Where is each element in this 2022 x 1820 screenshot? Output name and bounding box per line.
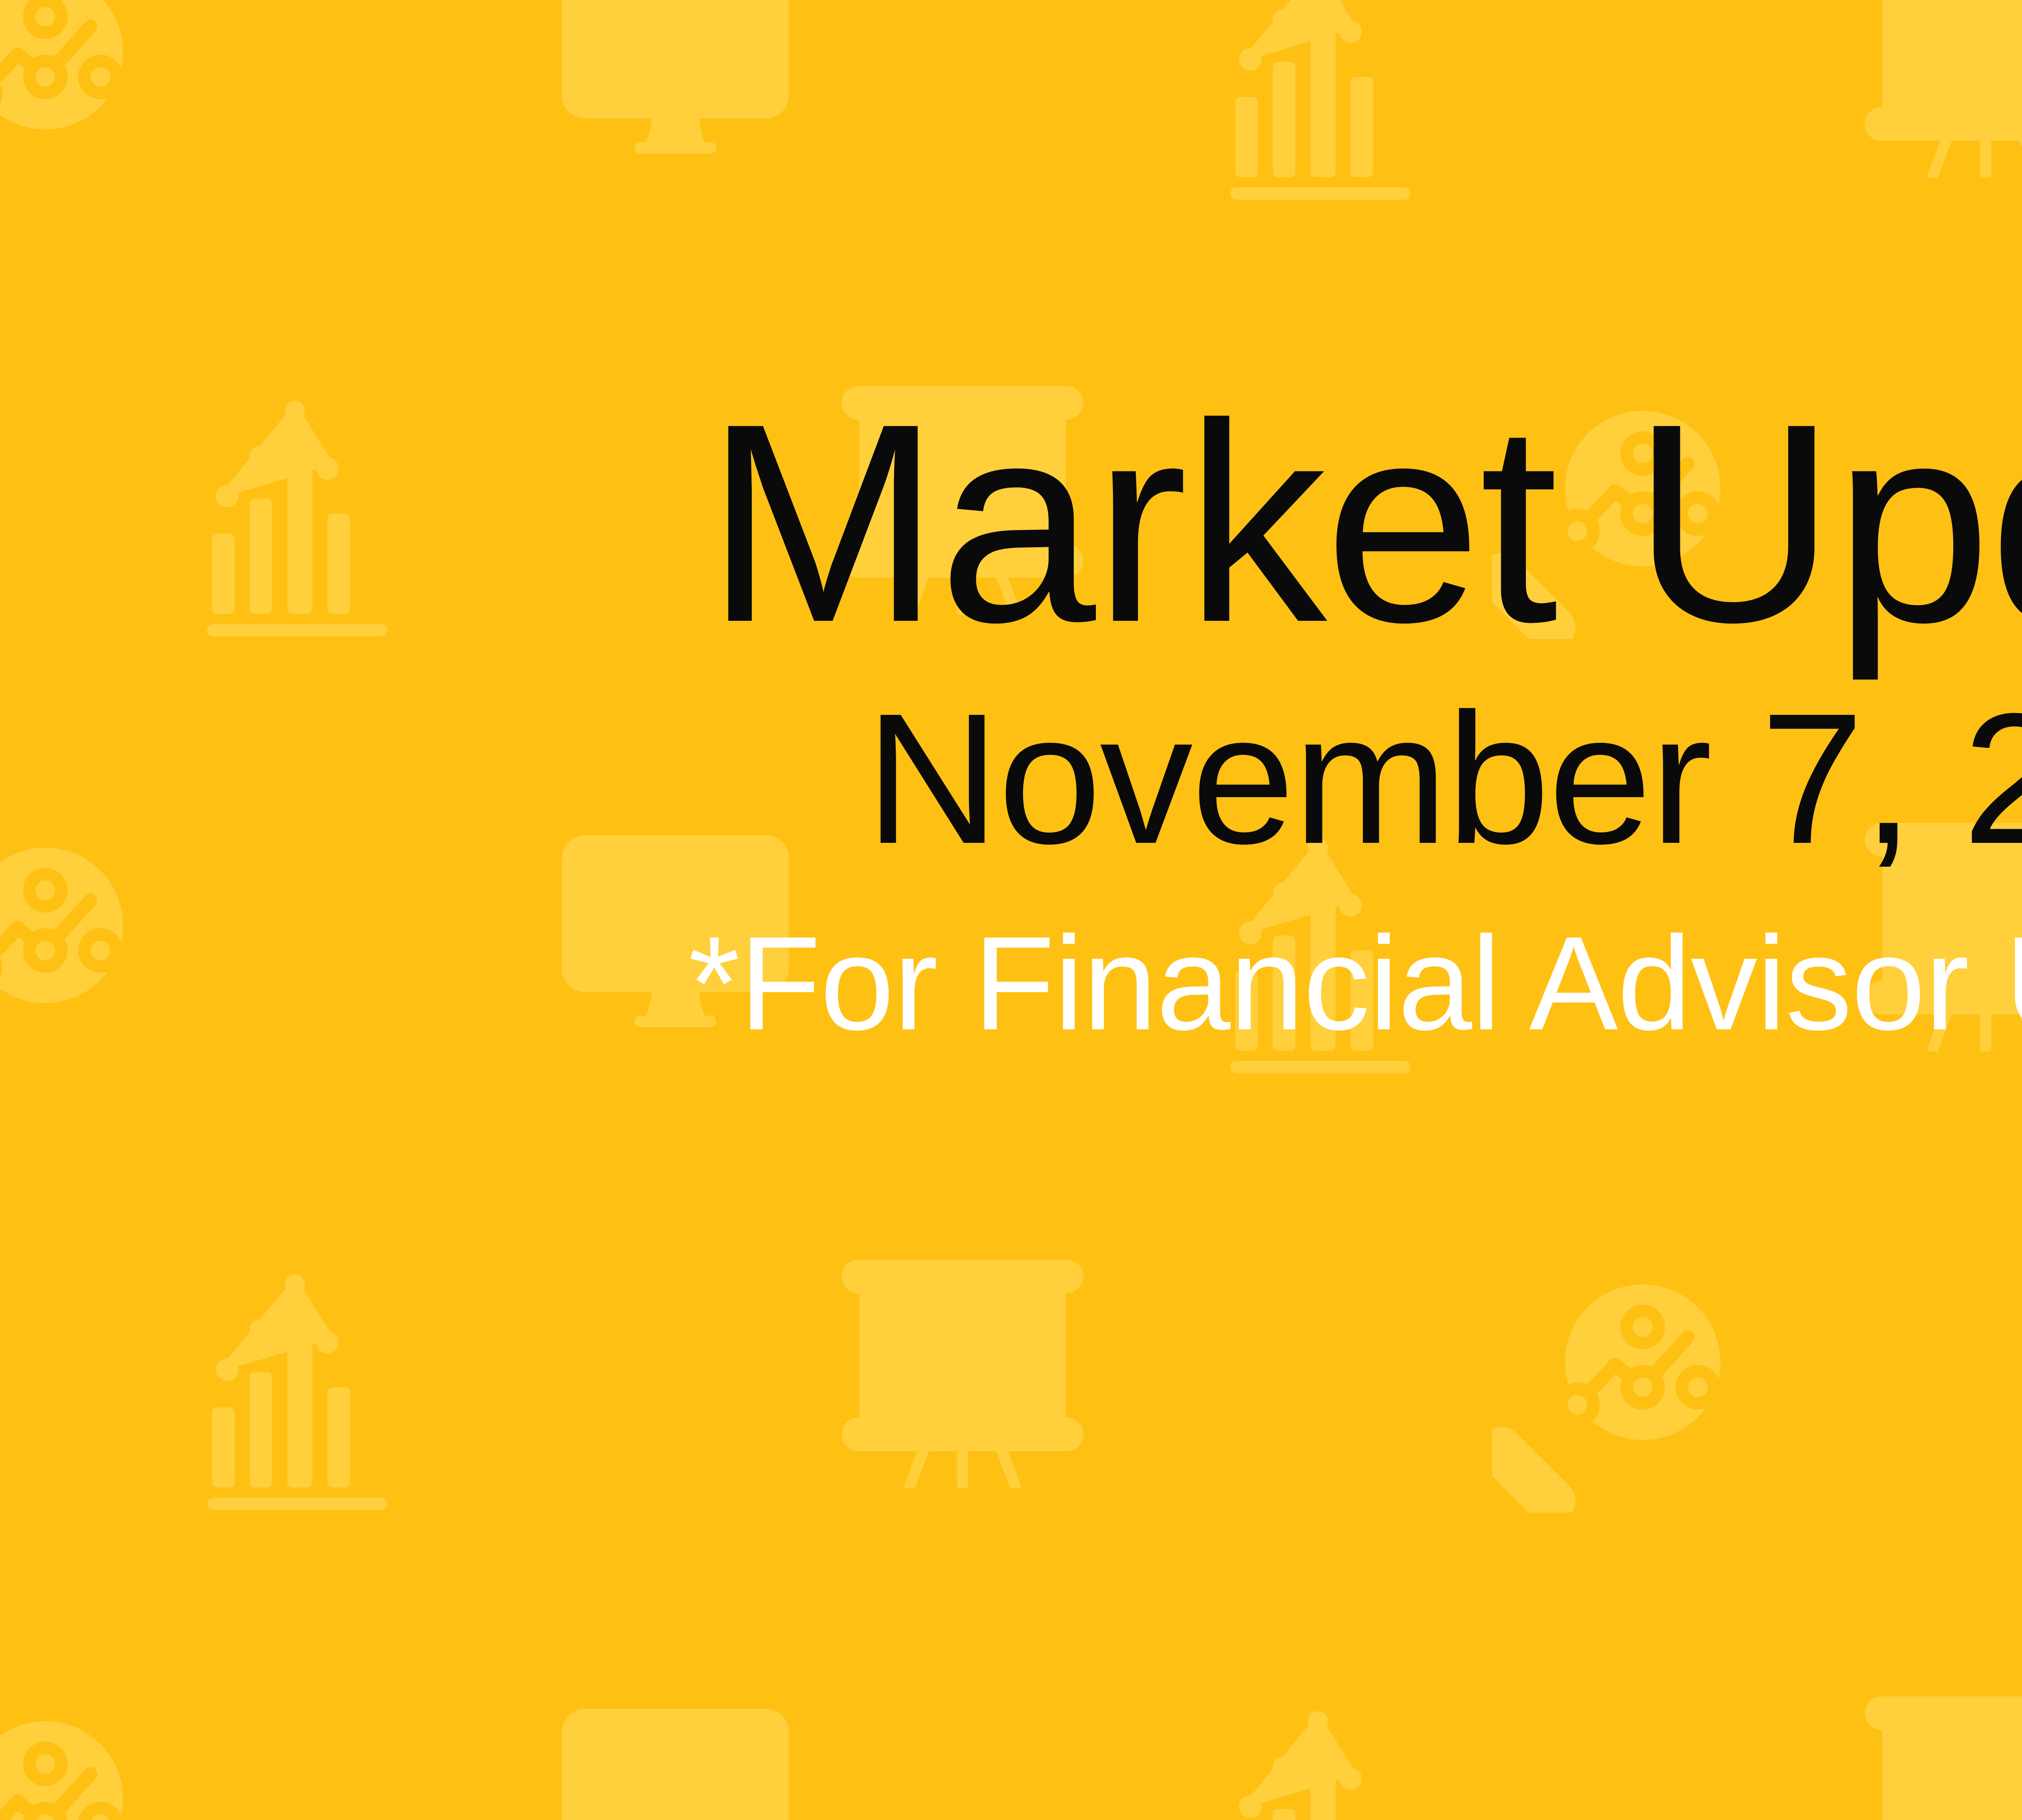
slide-date: November 7, 2023 [865,686,2022,872]
page-title: Market Update [705,384,2022,662]
market-update-slide: Market Update November 7, 2023 *For Fina… [0,0,2022,1820]
slide-content: Market Update November 7, 2023 *For Fina… [0,0,2022,1820]
advisor-use-disclaimer: *For Financial Advisor Use Only [688,916,2022,1050]
